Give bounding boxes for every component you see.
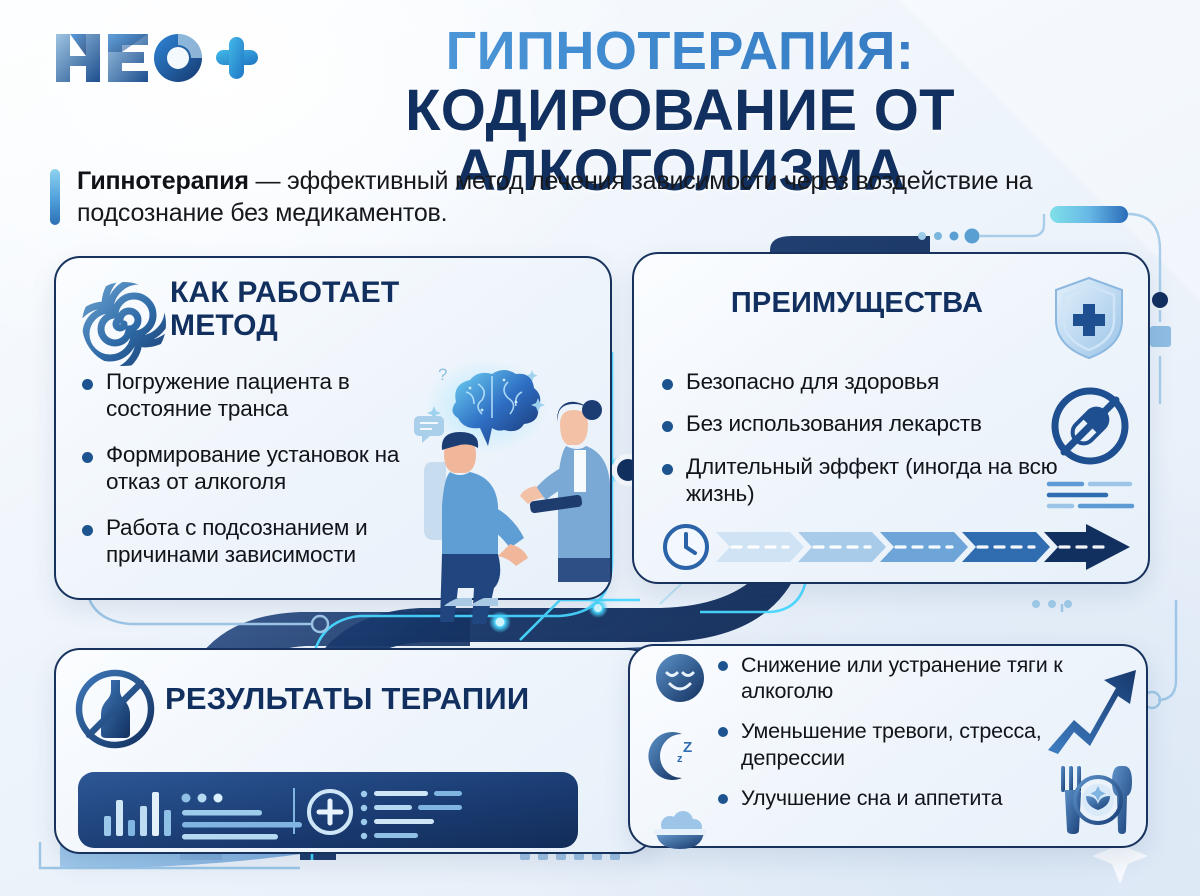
bullet-dot <box>662 421 673 432</box>
bullet-text: Работа с подсознанием и причинами зависи… <box>106 514 442 569</box>
card-heading-method: КАК РАБОТАЕТ МЕТОД <box>170 276 490 342</box>
bullet-text: Улучшение сна и аппетита <box>741 785 1002 811</box>
intro-bold: Гипнотерапия <box>77 167 249 195</box>
speech-bubble <box>414 416 444 443</box>
clock-icon <box>665 526 707 568</box>
moon-sleep-icon: Z z <box>652 730 708 782</box>
bullet-dot <box>662 464 673 475</box>
list-item: Формирование установок на отказ от алког… <box>82 441 442 496</box>
no-alcohol-bottle-icon <box>72 666 158 752</box>
healthy-meal-icon <box>1058 762 1134 834</box>
svg-text:z: z <box>677 753 683 765</box>
method-bullet-list: Погружение пациента в состояние транса Ф… <box>82 368 442 569</box>
bullet-dot <box>662 379 673 390</box>
bullet-dot <box>718 661 728 671</box>
bullet-text: Формирование установок на отказ от алког… <box>106 441 442 496</box>
bullet-text: Безопасно для здоровья <box>686 368 939 395</box>
list-item: Погружение пациента в состояние транса <box>82 368 442 423</box>
progress-arrow <box>662 522 1134 572</box>
therapy-session-illustration: ? <box>408 358 638 608</box>
shield-plus-icon <box>1052 276 1126 360</box>
results-data-panel <box>78 772 578 852</box>
bullet-text: Уменьшение тревоги, стресса, депрессии <box>741 718 1068 770</box>
hypnosis-spiral-icon <box>76 276 172 372</box>
effects-icon-column: Z z <box>648 652 712 852</box>
bullet-text: Снижение или устранение тяги к алкоголю <box>741 652 1068 704</box>
bullet-text: Погружение пациента в состояние транса <box>106 368 442 423</box>
bullet-dot <box>718 727 728 737</box>
effects-bullet-list: Снижение или устранение тяги к алкоголю … <box>718 652 1068 811</box>
list-item: Уменьшение тревоги, стресса, депрессии <box>718 718 1068 770</box>
list-item: Работа с подсознанием и причинами зависи… <box>82 514 442 569</box>
bullet-text: Длительный эффект (иногда на всю жизнь) <box>686 453 1062 508</box>
bullet-text: Без использования лекарств <box>686 410 982 437</box>
list-item: Длительный эффект (иногда на всю жизнь) <box>662 453 1062 508</box>
bullet-dot <box>82 379 93 390</box>
card-heading-advantages: ПРЕИМУЩЕСТВА <box>632 288 1082 320</box>
question-mark: ? <box>438 365 447 384</box>
bullet-dot <box>82 452 93 463</box>
bullet-dot <box>82 525 93 536</box>
calm-face-icon <box>654 652 706 704</box>
list-item: Улучшение сна и аппетита <box>718 785 1068 811</box>
patient-figure <box>440 432 528 624</box>
salad-bowl-icon <box>653 808 707 852</box>
title-line-1: ГИПНОТЕРАПИЯ: <box>180 24 1180 79</box>
advantages-bullet-list: Безопасно для здоровья Без использования… <box>662 368 1062 508</box>
rising-arrow-small-icon <box>1044 650 1140 756</box>
intro-paragraph: Гипнотерапия — эффективный метод лечения… <box>50 166 1130 230</box>
accent-bar <box>50 169 60 225</box>
card-heading-results: РЕЗУЛЬТАТЫ ТЕРАПИИ <box>165 682 625 716</box>
list-item: Безопасно для здоровья <box>662 368 1062 395</box>
infographic-canvas: ГИПНОТЕРАПИЯ: КОДИРОВАНИЕ ОТ АЛКОГОЛИЗМА… <box>0 0 1200 896</box>
bullet-dot <box>718 794 728 804</box>
list-item: Без использования лекарств <box>662 410 1062 437</box>
svg-text:Z: Z <box>683 739 692 756</box>
intro-text: Гипнотерапия — эффективный метод лечения… <box>77 166 1130 230</box>
list-item: Снижение или устранение тяги к алкоголю <box>718 652 1068 704</box>
